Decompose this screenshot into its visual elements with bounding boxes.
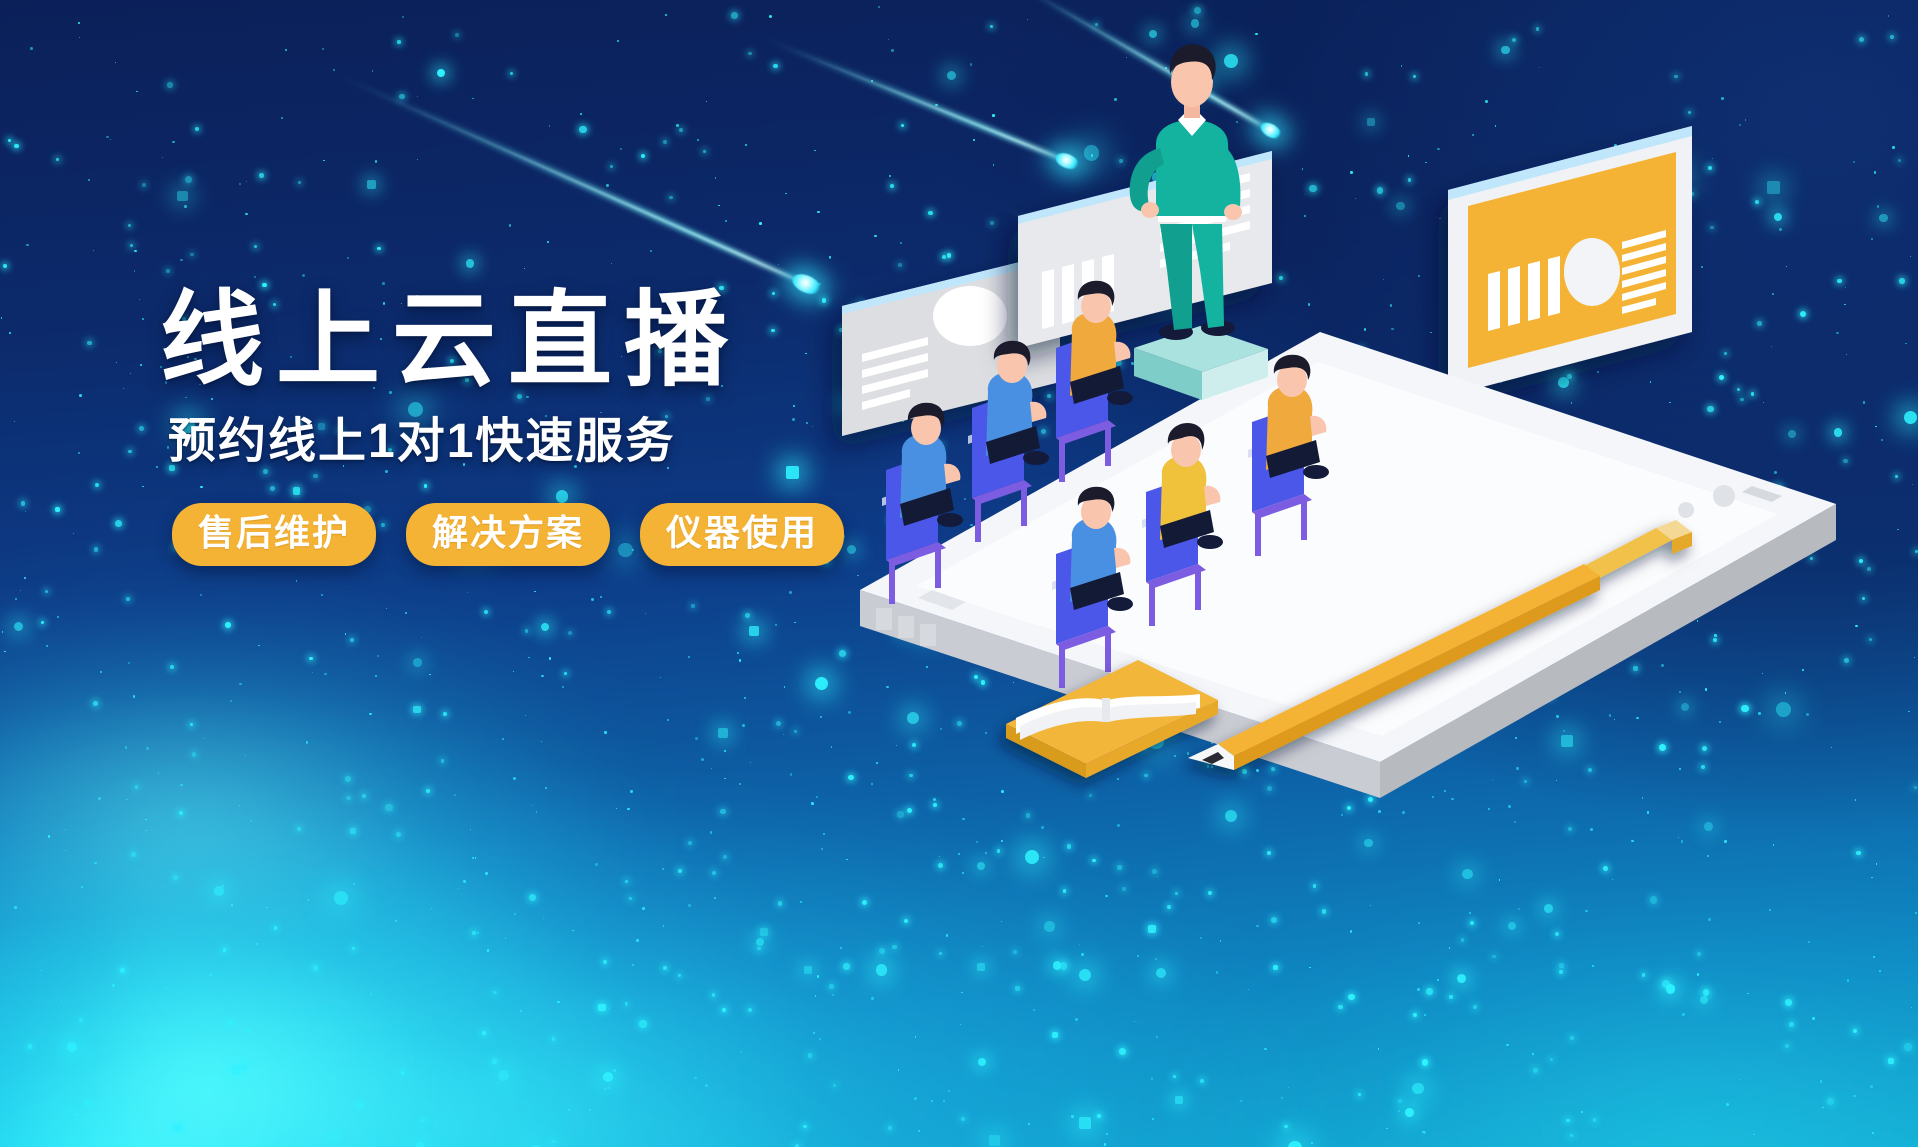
banner-copy: 线上云直播 预约线上1对1快速服务 售后维护 解决方案 仪器使用: [160, 286, 920, 566]
tag-button-solutions[interactable]: 解决方案: [406, 503, 610, 566]
hero-illustration: [820, 120, 1880, 800]
tag-button-instrument-use[interactable]: 仪器使用: [640, 503, 844, 566]
comet-icon-3: [1006, 0, 1274, 137]
page-subtitle: 预约线上1对1快速服务: [168, 416, 920, 469]
floating-card-right: [1448, 126, 1692, 396]
tag-button-after-sales[interactable]: 售后维护: [172, 503, 376, 566]
banner-root: 线上云直播 预约线上1对1快速服务 售后维护 解决方案 仪器使用: [0, 0, 1918, 1147]
nebula-glow-midleft: [0, 577, 640, 1007]
nebula-glow-bottom: [120, 747, 1370, 1147]
nebula-glow-left: [0, 697, 800, 1147]
nebula-glow-right: [1178, 877, 1918, 1147]
tag-button-group: 售后维护 解决方案 仪器使用: [172, 503, 920, 566]
page-title: 线上云直播: [160, 286, 920, 396]
comet-icon-1: [325, 61, 810, 294]
